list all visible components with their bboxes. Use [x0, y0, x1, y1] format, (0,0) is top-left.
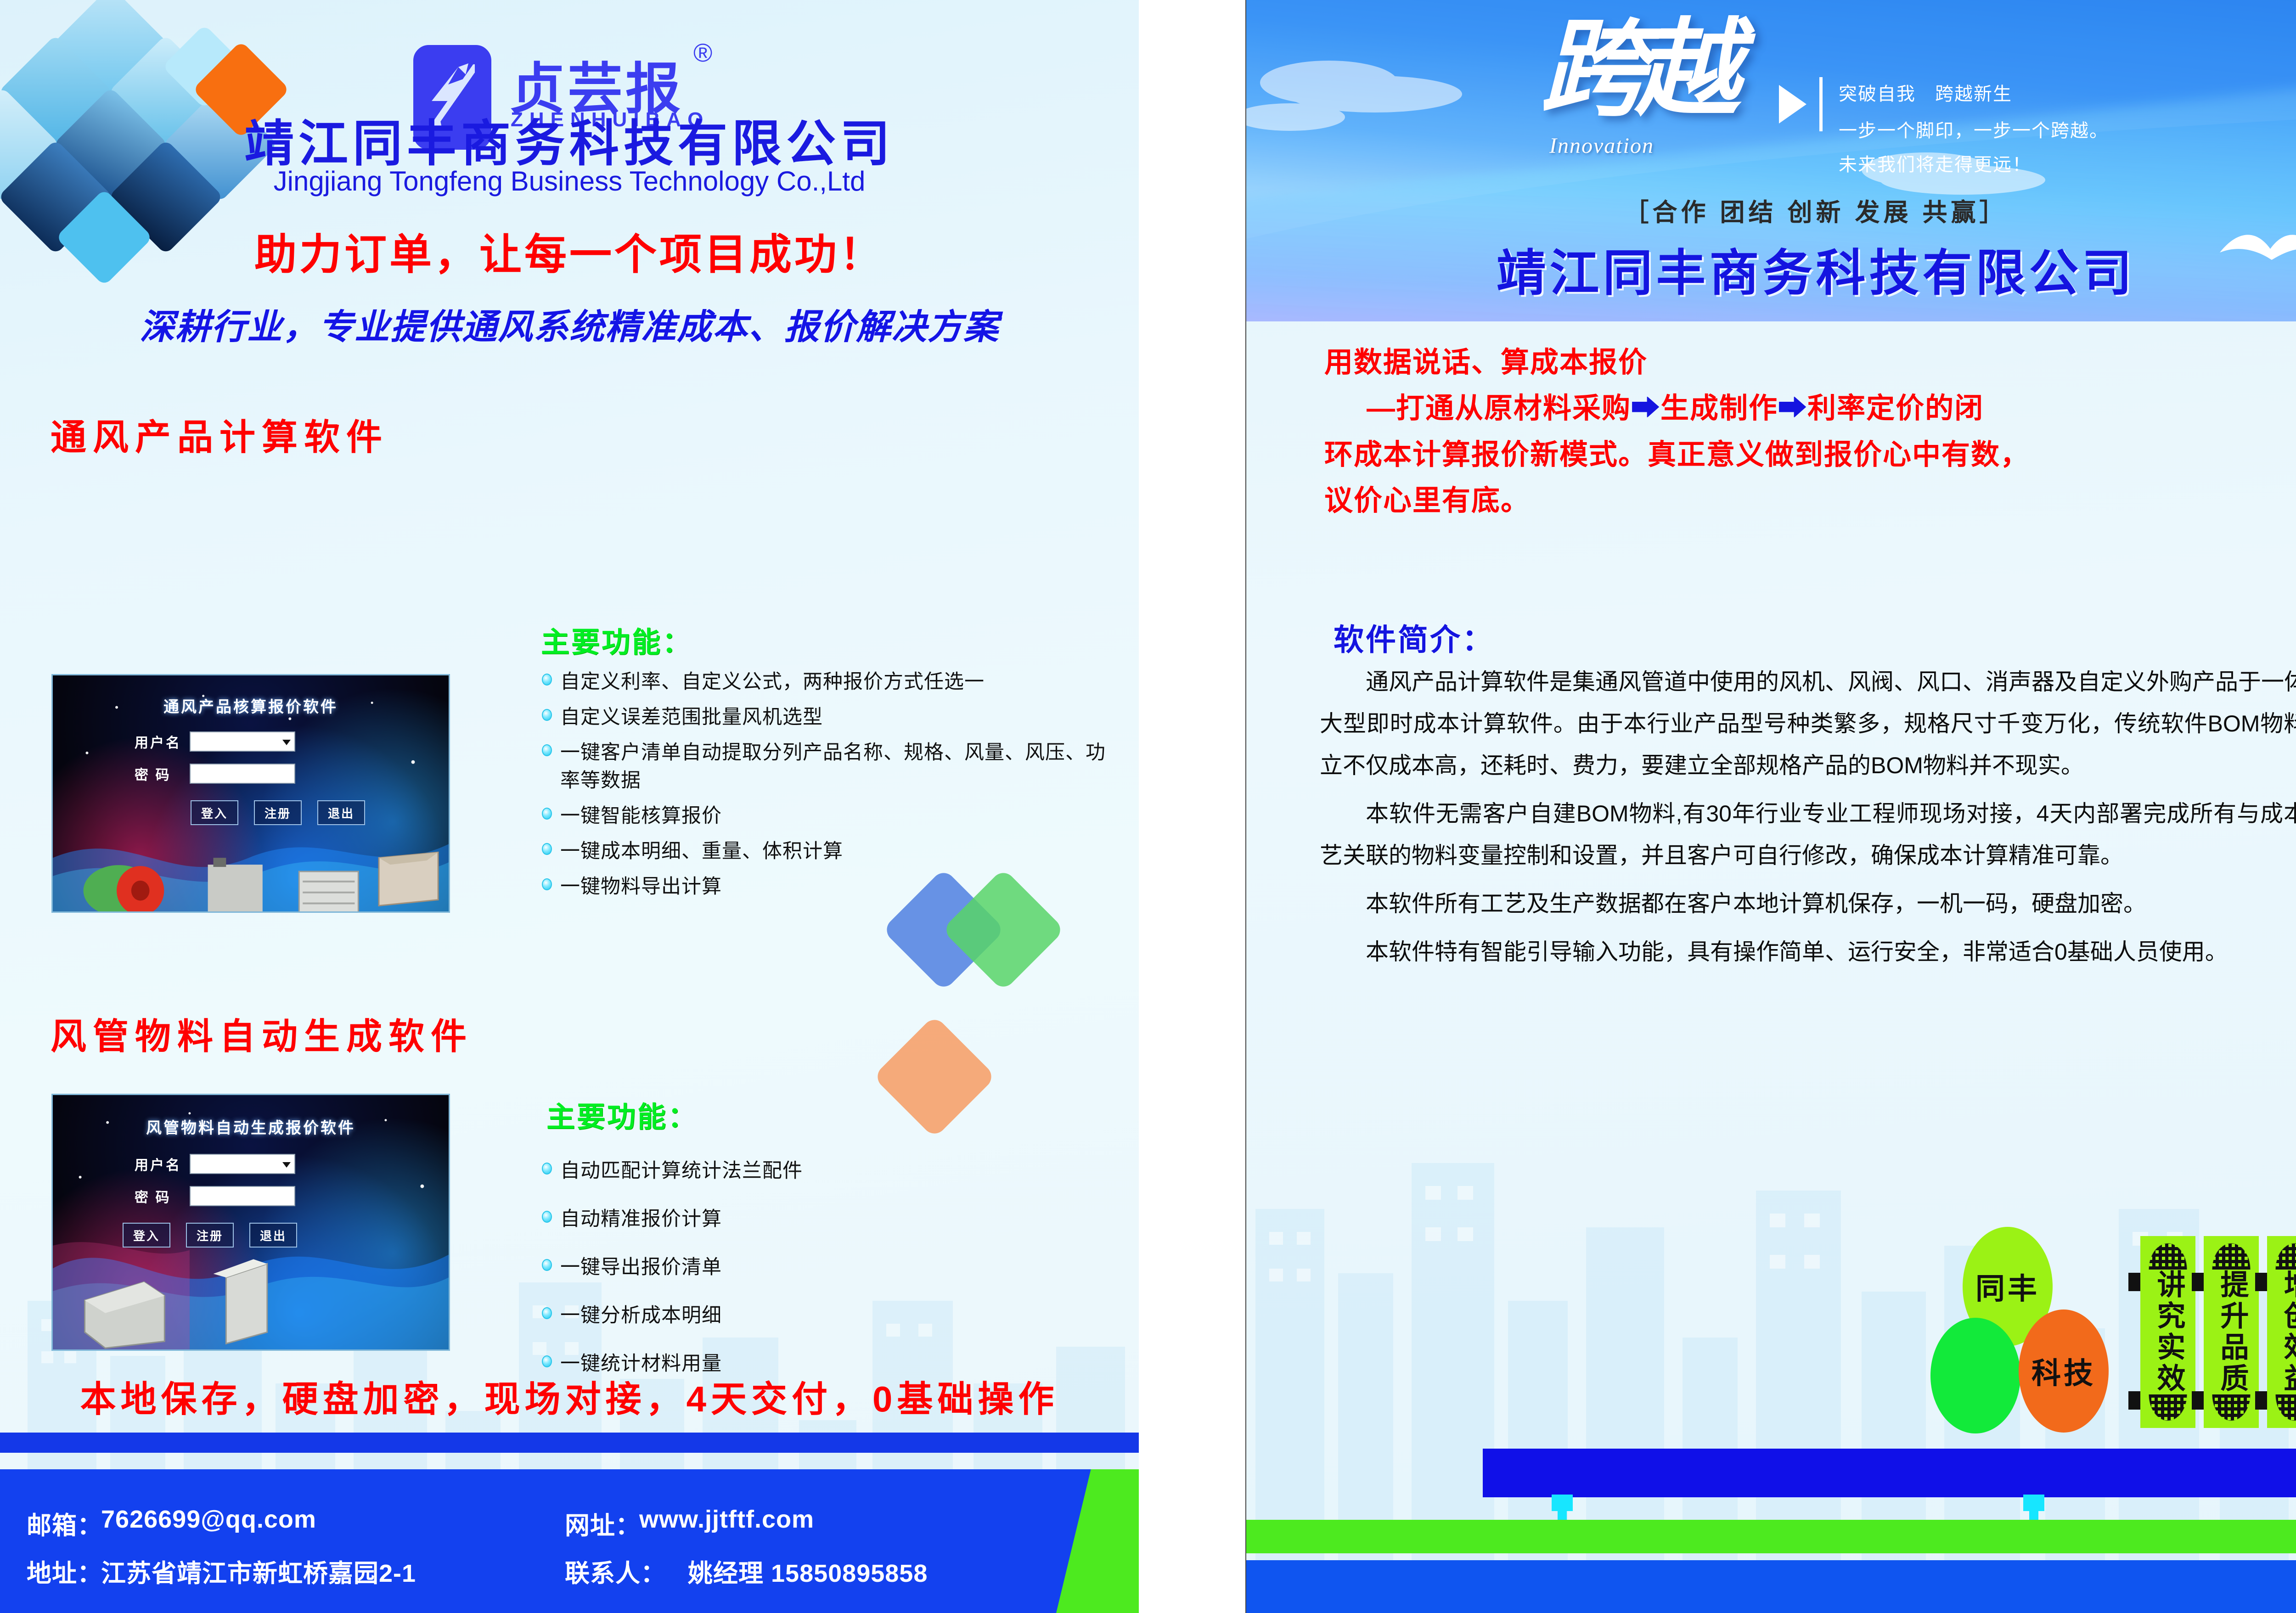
bullet-dot-icon — [542, 1307, 552, 1319]
feature-item: 一键客户清单自动提取分列产品名称、规格、风量、风压、功率等数据 — [542, 739, 1116, 795]
red-line-2c: 利率定价的闭 — [1807, 393, 1984, 424]
right-red-headline-block: 用数据说话、算成本报价 —打通从原材料采购➡生成制作➡利率定价的闭 环成本计算报… — [1324, 340, 2296, 524]
hero-innovation-text: Innovation — [1549, 133, 1654, 158]
feature-item: 自定义利率、自定义公式，两种报价方式任选一 — [542, 668, 1116, 696]
features-list-2: 自动匹配计算统计法兰配件 自动精准报价计算 一键导出报价清单 一键分析成本明细 … — [542, 1157, 1116, 1385]
feature-text: 自定义误差范围批量风机选型 — [560, 703, 823, 731]
plank-leg-top-left — [1552, 1495, 1573, 1511]
banner-ornament-bottom-icon — [2273, 1394, 2296, 1425]
footer-address-value: 江苏省靖江市新虹桥嘉园2-1 — [101, 1553, 416, 1589]
feature-text: 自定义利率、自定义公式，两种报价方式任选一 — [560, 668, 985, 696]
banner-cap — [2128, 1391, 2140, 1410]
intro-paragraph: 本软件特有智能引导输入功能，具有操作简单、运行安全，非常适合0基础人员使用。 — [1320, 931, 2296, 973]
intro-paragraph: 本软件无需客户自建BOM物料,有30年行业专业工程师现场对接，4天内部署完成所有… — [1320, 793, 2296, 877]
footer-email-label: 邮箱： — [27, 1505, 102, 1541]
section-title-1: 通风产品计算软件 — [51, 409, 388, 460]
left-footer: 邮箱： 7626699@qq.com 网址： www.jjtftf.com 地址… — [0, 1469, 1139, 1613]
banner-cap — [2255, 1273, 2267, 1291]
banner-ornament-top-icon — [2273, 1239, 2296, 1270]
feature-text: 一键成本明细、重量、体积计算 — [560, 837, 843, 866]
banner-cap — [2192, 1273, 2204, 1291]
feature-item: 一键分析成本明细 — [542, 1302, 1116, 1330]
banner-ornament-bottom-icon — [2146, 1394, 2190, 1425]
banner-cap — [2192, 1391, 2204, 1410]
bullet-dot-icon — [542, 843, 552, 855]
footer-contact-value[interactable]: 姚经理 15850895858 — [688, 1553, 928, 1589]
left-slogan-blue: 深耕行业，专业提供通风系统精准成本、报价解决方案 — [0, 298, 1139, 349]
arrow-right-icon-2: ➡ — [1778, 393, 1807, 424]
features-head-2: 主要功能： — [546, 1094, 698, 1135]
hero-motto-line-2: 一步一个脚印，一步一个跨越。 — [1839, 116, 2109, 142]
banner-2: 提升品质 — [2204, 1236, 2259, 1428]
left-divider-bar — [0, 1433, 1139, 1453]
bullet-dot-icon — [542, 744, 552, 756]
footer-address-label: 地址： — [27, 1553, 102, 1589]
red-line-2b: 生成制作 — [1660, 393, 1778, 424]
right-hero-banner: 跨越 Innovation 突破自我 跨越新生 一步一个脚印，一步一个跨越。 未… — [1246, 0, 2296, 321]
screenshot-1-product-images — [53, 675, 449, 912]
feature-text: 一键物料导出计算 — [560, 873, 722, 901]
footer-contact-label: 联系人： — [565, 1553, 666, 1589]
green-band — [1246, 1520, 2296, 1553]
left-bottom-slogan: 本地保存，硬盘加密，现场对接，4天交付，0基础操作 — [0, 1371, 1139, 1422]
flyer-spread: 贞芸报 ® ZHENHUIBAO 靖江同丰商务科技有限公司 Jingjiang … — [0, 0, 2296, 1613]
red-line-2: —打通从原材料采购➡生成制作➡利率定价的闭 — [1324, 386, 2296, 432]
hero-divider-line — [1819, 77, 1823, 131]
feature-text: 自动匹配计算统计法兰配件 — [560, 1157, 803, 1185]
feature-item: 一键导出报价清单 — [542, 1253, 1116, 1281]
bullet-dot-icon — [542, 1355, 552, 1367]
feature-text: 一键导出报价清单 — [560, 1253, 722, 1281]
blue-plank — [1483, 1449, 2296, 1497]
banner-2-text: 提升品质 — [2216, 1270, 2247, 1394]
intro-body: 通风产品计算软件是集通风管道中使用的风机、风阀、风口、消声器及自定义外购产品于一… — [1320, 661, 2296, 979]
footer-website-value[interactable]: www.jjtftf.com — [639, 1505, 814, 1534]
footer-green-accent — [1056, 1469, 1139, 1613]
oval-keji: 科技 — [2019, 1310, 2109, 1433]
banner-cap — [2128, 1273, 2140, 1291]
feature-item: 一键成本明细、重量、体积计算 — [542, 837, 1116, 866]
bullet-dot-icon — [542, 709, 552, 721]
right-company-name-cn: 靖江同丰商务科技有限公司 — [1246, 233, 2296, 305]
software-screenshot-2: 风管物料自动生成报价软件 用户名 密 码 登入 注册 退出 — [51, 1094, 450, 1351]
intro-heading: 软件简介： — [1334, 615, 1494, 659]
features-head-1: 主要功能： — [541, 619, 692, 660]
feature-text: 一键客户清单自动提取分列产品名称、规格、风量、风压、功率等数据 — [560, 739, 1116, 795]
left-company-name-cn: 靖江同丰商务科技有限公司 — [0, 104, 1139, 175]
feature-text: 一键智能核算报价 — [560, 802, 722, 830]
arrow-right-icon-1: ➡ — [1631, 393, 1660, 424]
banner-ornament-top-icon — [2146, 1239, 2190, 1270]
feature-text: 一键分析成本明细 — [560, 1302, 722, 1330]
play-triangle-icon — [1779, 85, 1806, 124]
feature-item: 自动匹配计算统计法兰配件 — [542, 1157, 1116, 1185]
intro-paragraph: 本软件所有工艺及生产数据都在客户本地计算机保存，一机一码，硬盘加密。 — [1320, 883, 2296, 925]
red-line-3: 环成本计算报价新模式。真正意义做到报价心中有数， — [1324, 432, 2296, 478]
footer-website-label: 网址： — [565, 1505, 641, 1541]
left-slogan-red: 助力订单，让每一个项目成功！ — [0, 220, 1139, 281]
footer-email-value[interactable]: 7626699@qq.com — [101, 1505, 316, 1534]
red-line-4: 议价心里有底。 — [1324, 478, 2296, 524]
registered-trademark-icon: ® — [693, 38, 712, 67]
seagull-icon — [2211, 216, 2296, 294]
banner-ornament-top-icon — [2209, 1239, 2253, 1270]
banner-3: 增创效益 — [2267, 1236, 2296, 1428]
red-line-2a: —打通从原材料采购 — [1367, 393, 1631, 424]
blue-footer-band — [1246, 1560, 2296, 1613]
screenshot-2-product-images — [53, 1095, 449, 1350]
bullet-dot-icon — [542, 1259, 552, 1271]
left-page: 贞芸报 ® ZHENHUIBAO 靖江同丰商务科技有限公司 Jingjiang … — [0, 0, 1139, 1613]
software-screenshot-1: 通风产品核算报价软件 用户名 密 码 登入 注册 退出 — [51, 674, 450, 913]
bullet-dot-icon — [542, 1211, 552, 1223]
hero-kuayue-calligraphy: 跨越 — [1540, 17, 1779, 210]
right-city-skyline-watermark — [1246, 924, 2296, 1613]
banner-ornament-bottom-icon — [2209, 1394, 2253, 1425]
bullet-dot-icon — [542, 674, 552, 686]
decor-diamond-orange — [873, 1015, 996, 1139]
feature-text: 自动精准报价计算 — [560, 1205, 722, 1233]
feature-item: 自动精准报价计算 — [542, 1205, 1116, 1233]
oval-green-blank — [1930, 1318, 2020, 1433]
bullet-dot-icon — [542, 878, 552, 890]
banner-1-text: 讲究实效 — [2153, 1270, 2183, 1394]
hero-core-values: ［合作 团结 创新 发展 共赢］ — [1246, 192, 2296, 228]
feature-item: 一键智能核算报价 — [542, 802, 1116, 830]
section-title-2: 风管物料自动生成软件 — [51, 1008, 473, 1059]
feature-item: 自定义误差范围批量风机选型 — [542, 703, 1116, 731]
left-company-name-en: Jingjiang Tongfeng Business Technology C… — [0, 165, 1139, 197]
hero-motto-line-1: 突破自我 跨越新生 — [1839, 79, 2012, 106]
plank-leg-top-right — [2023, 1495, 2044, 1511]
red-line-1: 用数据说话、算成本报价 — [1324, 340, 2296, 386]
intro-paragraph: 通风产品计算软件是集通风管道中使用的风机、风阀、风口、消声器及自定义外购产品于一… — [1320, 661, 2296, 787]
banner-3-text: 增创效益 — [2279, 1270, 2296, 1394]
banner-cap — [2255, 1391, 2267, 1410]
right-page: 跨越 Innovation 突破自我 跨越新生 一步一个脚印，一步一个跨越。 未… — [1245, 0, 2296, 1613]
hero-motto-line-3: 未来我们将走得更远！ — [1839, 150, 2032, 176]
bullet-dot-icon — [542, 1163, 552, 1175]
bullet-dot-icon — [542, 808, 552, 820]
features-list-1: 自定义利率、自定义公式，两种报价方式任选一 自定义误差范围批量风机选型 一键客户… — [542, 668, 1116, 908]
banner-1: 讲究实效 — [2140, 1236, 2195, 1428]
